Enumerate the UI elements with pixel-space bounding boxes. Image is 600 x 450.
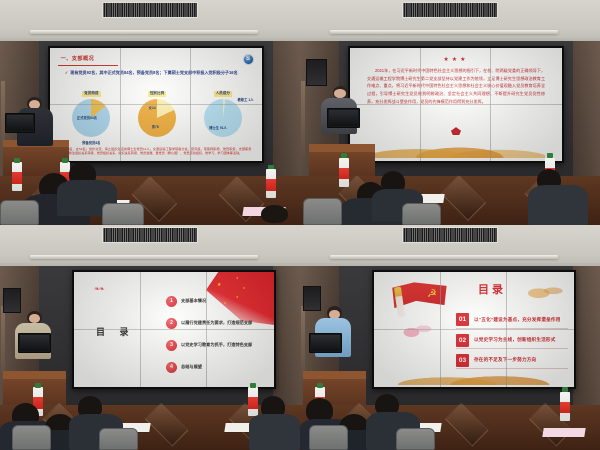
attendee-body (249, 414, 300, 450)
agenda-item: 03 存在的不足及下一步努力方向 (456, 354, 568, 367)
slide-heading: 目录 (478, 281, 506, 297)
table-panel-diamond (441, 175, 487, 221)
photo-panel-top-right: ★★★ 2021年，在习近平新时代中国特色社会主义思想的指引下，在校、院两级党委… (300, 0, 600, 225)
mountain-illustration (367, 136, 545, 157)
presenter-head (27, 311, 42, 325)
speaker-box (3, 288, 21, 313)
ac-vent-icon (102, 2, 198, 18)
video-wall: ★★★ 2021年，在习近平新时代中国特色社会主义思想的指引下，在校、院两级党委… (348, 46, 564, 163)
attendee-head (261, 205, 288, 223)
pie-caption: 性别比例 (148, 91, 166, 97)
pie-slice-label: 女14 (149, 105, 156, 110)
pie-slice-label: 博士生 91人 (209, 125, 227, 130)
slide-intro-text: ★★★ 2021年，在习近平新时代中国特色社会主义思想的指引下，在校、院两级党委… (350, 48, 562, 161)
bottle-cap (547, 153, 553, 158)
pie-chart-personnel: 人员成分 博士生 91人 教职工 1人 (193, 91, 252, 137)
water-bottle (560, 392, 570, 421)
agenda-text: 以履行党建责任为要求，打造规范支部 (181, 320, 252, 326)
monitor-screen (329, 110, 358, 126)
bullet-marker: ✓ (65, 70, 68, 75)
ceiling-light (30, 30, 258, 34)
agenda-item: 2 以履行党建责任为要求，打造规范支部 (166, 318, 266, 329)
pie-shape: 正式党员84名 (72, 99, 110, 137)
bottle-cap (250, 383, 256, 388)
agenda-number: 2 (166, 318, 177, 329)
podium-top (3, 371, 66, 379)
slide-footnote: 男40名、女52名；境外交流、停止组织生活的博士生党员12人。交通运输工程学院各… (63, 147, 252, 156)
presenter-head (333, 86, 348, 100)
photo-panel-top-left: 一、支部概况 S ✓现有党员92名，其中正式党员84名，预备党员8名；下属硕士党… (0, 0, 300, 225)
pie-caption: 党员构成 (82, 91, 100, 97)
bottle-label (248, 397, 258, 409)
ceiling-light (330, 30, 558, 34)
agenda-text: 支部基本情况 (181, 298, 206, 304)
agenda-list: 1 支部基本情况 2 以履行党建责任为要求，打造规范支部 3 以党史学习教育为抓… (166, 290, 266, 378)
slide-title: 一、支部概况 (61, 55, 95, 62)
agenda-item: 3 以党史学习教育为抓手，打造特色支部 (166, 340, 266, 351)
cloud-decoration (528, 282, 564, 298)
chair (396, 428, 435, 450)
pie-slice-label: 教职工 1人 (238, 97, 254, 102)
floral-swirl-decoration (395, 318, 436, 342)
podium-top (309, 144, 375, 152)
water-bottle (12, 162, 22, 191)
photo-panel-bottom-right: ☭ 目录 01 以“五化”建设为基点，充分发挥堡垒作用 (300, 225, 600, 450)
agenda-number: 4 (166, 362, 177, 373)
agenda-text: 以“五化”建设为基点，充分发挥堡垒作用 (474, 317, 561, 323)
university-logo-icon: S (243, 54, 254, 65)
monitor-screen (7, 115, 33, 131)
water-bottle (339, 158, 349, 187)
bottle-cap (14, 158, 20, 163)
ac-vent-icon (402, 227, 498, 243)
agenda-text: 存在的不足及下一步努力方向 (474, 357, 536, 363)
party-art-illustration: ☭ (380, 277, 448, 348)
pie-slice-label: 预备党员8名 (82, 140, 100, 145)
pie-shape: 女14 男78 (138, 99, 176, 137)
pie-shape: 博士生 91人 (204, 99, 242, 137)
bottle-cap (317, 383, 323, 388)
ceiling-light (330, 255, 558, 259)
agenda-number: 1 (166, 296, 177, 307)
pie-slice-label: 正式党员84名 (77, 115, 97, 120)
slide-bullet: ✓现有党员92名，其中正式党员84名，预备党员8名；下属硕士党支部中积极入党积极… (65, 70, 247, 76)
agenda-item: 02 以党史学习为主线，创新组织生活形式 (456, 334, 568, 347)
slide-agenda-three: ☭ 目录 01 以“五化”建设为基点，充分发挥堡垒作用 (374, 272, 574, 387)
slide-branch-overview: 一、支部概况 S ✓现有党员92名，其中正式党员84名，预备党员8名；下属硕士党… (50, 48, 262, 161)
emblem-icon (451, 127, 461, 135)
photo-grid: 一、支部概况 S ✓现有党员92名，其中正式党员84名，预备党员8名；下属硕士党… (0, 0, 600, 450)
wall-panel-accent (301, 81, 304, 158)
agenda-item: 4 总结与展望 (166, 362, 266, 373)
bottle-label (560, 402, 570, 414)
agenda-text: 总结与展望 (181, 364, 202, 370)
attendee-body (528, 185, 588, 226)
agenda-item: 01 以“五化”建设为基点，充分发挥堡垒作用 (456, 313, 568, 326)
monitor-screen (20, 335, 49, 351)
agenda-number: 3 (166, 340, 177, 351)
hammer-sickle-icon: ☭ (425, 288, 438, 301)
ceiling-light (30, 255, 258, 259)
podium-monitor (18, 333, 51, 353)
photo-panel-bottom-left: ★ ★ ★ ★ ★ ❧❧ 目 录 1 支部基本情况 2 以履行党建责任为要求，打… (0, 225, 300, 450)
agenda-item-wrap: 01 以“五化”建设为基点，充分发挥堡垒作用 (456, 313, 568, 328)
podium-monitor (309, 333, 342, 353)
mountain-illustration (398, 367, 562, 385)
podium-top (303, 371, 366, 379)
chair (0, 200, 39, 225)
document-paper (542, 428, 585, 437)
chair (102, 203, 144, 226)
bottle-label (266, 179, 276, 191)
table-panel-diamond (444, 403, 488, 447)
agenda-divider (456, 348, 568, 349)
ac-vent-icon (102, 227, 198, 243)
agenda-number: 02 (456, 334, 469, 347)
agenda-number: 01 (456, 313, 469, 326)
pie-chart-gender-ratio: 性别比例 女14 男78 (127, 91, 186, 137)
agenda-divider (456, 328, 568, 329)
table-panel-diamond (144, 403, 188, 447)
video-wall: ☭ 目录 01 以“五化”建设为基点，充分发挥堡垒作用 (372, 270, 576, 389)
pie-slice-label: 男78 (152, 124, 159, 129)
bottle-cap (62, 158, 68, 163)
slide-agenda-four: ★ ★ ★ ★ ★ ❧❧ 目 录 1 支部基本情况 2 以履行党建责任为要求，打… (74, 272, 274, 387)
pie-chart-party-composition: 党员构成 正式党员84名 预备党员8名 (62, 91, 121, 145)
podium-monitor (327, 108, 360, 128)
chair (309, 425, 348, 450)
bottle-cap (341, 153, 347, 158)
agenda-list: 01 以“五化”建设为基点，充分发挥堡垒作用 02 以党史学习为主线，创新组织生… (456, 313, 568, 368)
rule-right (490, 61, 545, 62)
agenda-text: 以党史学习为主线，创新组织生活形式 (474, 337, 556, 343)
video-wall: ★ ★ ★ ★ ★ ❧❧ 目 录 1 支部基本情况 2 以履行党建责任为要求，打… (72, 270, 276, 389)
agenda-item: 1 支部基本情况 (166, 296, 266, 307)
chair (303, 198, 342, 225)
slide-heading: 目 录 (96, 325, 135, 338)
speaker-box (306, 59, 327, 86)
agenda-number: 03 (456, 354, 469, 367)
chair (12, 425, 51, 450)
chair (99, 428, 138, 450)
pie-caption: 人员成分 (214, 91, 232, 97)
podium-monitor (5, 113, 35, 133)
pie-chart-group: 党员构成 正式党员84名 预备党员8名 性别比例 女14 男78 (58, 91, 255, 138)
bird-illustration-icon: ❧❧ (94, 285, 104, 293)
star-decoration-icon: ★★★ (350, 56, 562, 63)
slide-body-text: 2021年，在习近平新时代中国特色社会主义思想的指引下，在校、院两级党委的正确领… (367, 67, 545, 105)
bottle-cap (268, 165, 274, 170)
speaker-box (303, 286, 321, 311)
bottle-label (339, 168, 349, 180)
water-bottle (248, 387, 258, 416)
bottle-label (12, 172, 22, 184)
rule-left (367, 61, 422, 62)
monitor-screen (311, 335, 340, 351)
agenda-item-wrap: 02 以党史学习为主线，创新组织生活形式 (456, 334, 568, 349)
water-bottle (266, 169, 276, 198)
agenda-text: 以党史学习教育为抓手，打造特色支部 (181, 342, 252, 348)
ac-vent-icon (402, 2, 498, 18)
bottle-cap (35, 383, 41, 388)
video-wall: 一、支部概况 S ✓现有党员92名，其中正式党员84名，预备党员8名；下属硕士党… (48, 46, 264, 163)
chair (402, 203, 441, 226)
title-underline (58, 65, 117, 66)
bottle-cap (562, 387, 568, 392)
